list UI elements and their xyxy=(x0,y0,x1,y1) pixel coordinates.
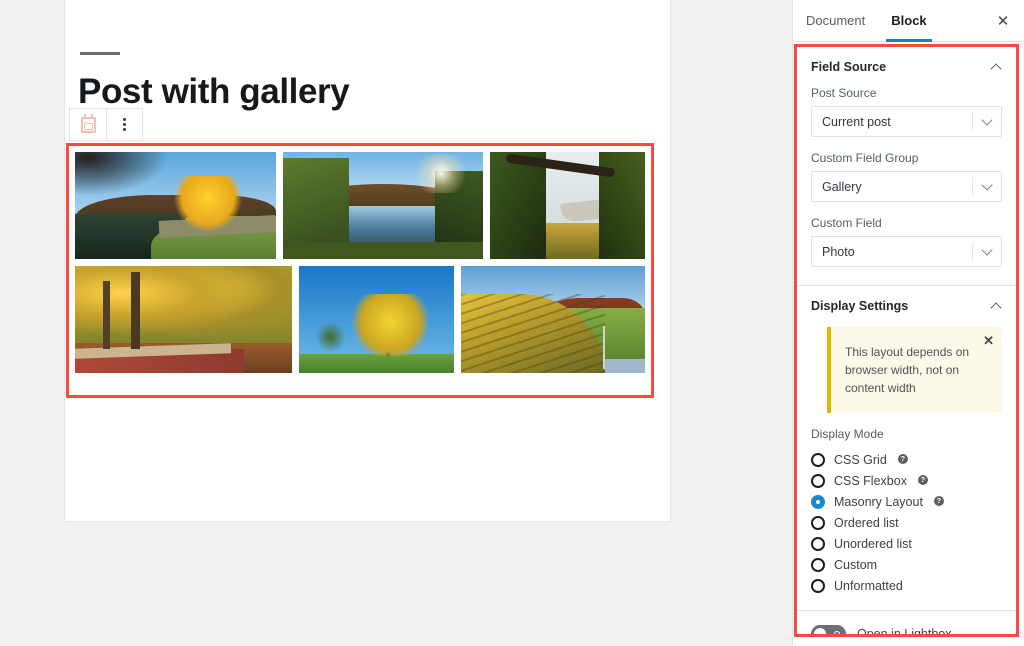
help-icon[interactable]: ? xyxy=(934,496,944,506)
block-type-button[interactable] xyxy=(70,109,106,140)
layout-notice-text: This layout depends on browser width, no… xyxy=(845,343,974,397)
open-in-lightbox-row[interactable]: Open in Lightbox xyxy=(797,610,1016,634)
panel-field-source-title: Field Source xyxy=(811,60,886,74)
display-mode-label: Display Mode xyxy=(811,427,1002,441)
post-source-select[interactable]: Current post xyxy=(811,106,1002,137)
radio-option-custom-label: Custom xyxy=(834,558,877,572)
gallery-image[interactable] xyxy=(490,152,645,259)
tab-block-label: Block xyxy=(891,13,926,28)
select-separator xyxy=(972,242,973,261)
panel-field-source-body: Post Source Current post Custom Field Gr… xyxy=(797,86,1016,285)
radio-option-css-flexbox-label: CSS Flexbox xyxy=(834,474,907,488)
gallery-row xyxy=(75,152,645,259)
custom-field-value: Photo xyxy=(812,245,855,259)
radio-icon[interactable] xyxy=(811,558,825,572)
gallery-image[interactable] xyxy=(75,266,292,373)
field-custom-field-group: Custom Field Group Gallery xyxy=(811,151,1002,202)
block-settings-panel-inner: Field Source Post Source Current post xyxy=(797,47,1016,634)
chevron-up-icon[interactable] xyxy=(991,62,1002,73)
close-icon: ✕ xyxy=(997,12,1010,30)
chevron-down-icon xyxy=(983,116,992,125)
radio-option-ordered-list-label: Ordered list xyxy=(834,516,899,530)
select-separator xyxy=(972,177,973,196)
radio-option-unformatted-label: Unformatted xyxy=(834,579,903,593)
editor-canvas: Post with gallery xyxy=(0,0,792,646)
chevron-down-icon xyxy=(983,246,992,255)
block-settings-sidebar: Document Block ✕ Field Source xyxy=(792,0,1024,646)
display-mode-radio-group: CSS Grid ? CSS Flexbox ? Masonry Layout xyxy=(811,449,1002,596)
radio-option-masonry-layout[interactable]: Masonry Layout ? xyxy=(811,491,1002,512)
field-post-source: Post Source Current post xyxy=(811,86,1002,137)
custom-field-select[interactable]: Photo xyxy=(811,236,1002,267)
gallery-grid xyxy=(75,152,645,389)
panel-field-source-header[interactable]: Field Source xyxy=(797,47,1016,86)
app-root: Post with gallery xyxy=(0,0,1024,646)
close-sidebar-button[interactable]: ✕ xyxy=(982,0,1024,41)
gallery-image[interactable] xyxy=(299,266,454,373)
radio-icon[interactable] xyxy=(811,516,825,530)
panel-field-source: Field Source Post Source Current post xyxy=(797,47,1016,286)
radio-option-css-grid[interactable]: CSS Grid ? xyxy=(811,449,1002,470)
panel-display-settings: Display Settings ✕ This layout depends o… xyxy=(797,286,1016,634)
open-in-lightbox-toggle[interactable] xyxy=(811,625,846,634)
gallery-row xyxy=(75,266,645,373)
radio-icon[interactable] xyxy=(811,474,825,488)
custom-field-group-value: Gallery xyxy=(812,180,862,194)
panel-display-settings-title: Display Settings xyxy=(811,299,908,313)
radio-option-masonry-layout-label: Masonry Layout xyxy=(834,495,923,509)
block-settings-panel: Field Source Post Source Current post xyxy=(794,44,1019,637)
radio-option-unordered-list-label: Unordered list xyxy=(834,537,912,551)
post-source-value: Current post xyxy=(812,115,891,129)
radio-option-unformatted[interactable]: Unformatted xyxy=(811,575,1002,596)
layout-notice: ✕ This layout depends on browser width, … xyxy=(827,327,1002,413)
radio-option-css-flexbox[interactable]: CSS Flexbox ? xyxy=(811,470,1002,491)
radio-icon[interactable] xyxy=(811,537,825,551)
vertical-dots-icon xyxy=(123,118,126,131)
help-icon[interactable]: ? xyxy=(898,454,908,464)
help-icon[interactable]: ? xyxy=(918,475,928,485)
chevron-down-icon xyxy=(983,181,992,190)
custom-field-group-select[interactable]: Gallery xyxy=(811,171,1002,202)
gallery-block[interactable] xyxy=(66,143,654,398)
field-custom-field-label: Custom Field xyxy=(811,216,1002,230)
panel-display-settings-body: ✕ This layout depends on browser width, … xyxy=(797,327,1016,596)
radio-icon[interactable] xyxy=(811,453,825,467)
title-rule-decoration xyxy=(80,52,120,55)
field-custom-field: Custom Field Photo xyxy=(811,216,1002,267)
gallery-image[interactable] xyxy=(75,152,276,259)
chevron-up-icon[interactable] xyxy=(991,301,1002,312)
radio-option-css-grid-label: CSS Grid xyxy=(834,453,887,467)
select-separator xyxy=(972,112,973,131)
gallery-image[interactable] xyxy=(283,152,483,259)
block-toolbar xyxy=(69,108,143,141)
dismiss-notice-button[interactable]: ✕ xyxy=(983,334,994,347)
post-calendar-icon xyxy=(81,117,96,133)
gallery-image[interactable] xyxy=(461,266,645,373)
field-post-source-label: Post Source xyxy=(811,86,1002,100)
open-in-lightbox-label: Open in Lightbox xyxy=(857,627,952,634)
tab-document[interactable]: Document xyxy=(793,0,878,41)
radio-option-ordered-list[interactable]: Ordered list xyxy=(811,512,1002,533)
toggle-knob xyxy=(814,628,826,634)
radio-icon[interactable] xyxy=(811,579,825,593)
panel-display-settings-header[interactable]: Display Settings xyxy=(797,286,1016,325)
radio-option-custom[interactable]: Custom xyxy=(811,554,1002,575)
page-title[interactable]: Post with gallery xyxy=(78,72,349,112)
field-custom-field-group-label: Custom Field Group xyxy=(811,151,1002,165)
toggle-off-indicator xyxy=(834,631,840,634)
radio-option-unordered-list[interactable]: Unordered list xyxy=(811,533,1002,554)
more-options-button[interactable] xyxy=(106,109,142,140)
sidebar-tabbar: Document Block ✕ xyxy=(793,0,1024,42)
tab-document-label: Document xyxy=(806,13,865,28)
radio-icon-selected[interactable] xyxy=(811,495,825,509)
tab-block[interactable]: Block xyxy=(878,0,939,41)
